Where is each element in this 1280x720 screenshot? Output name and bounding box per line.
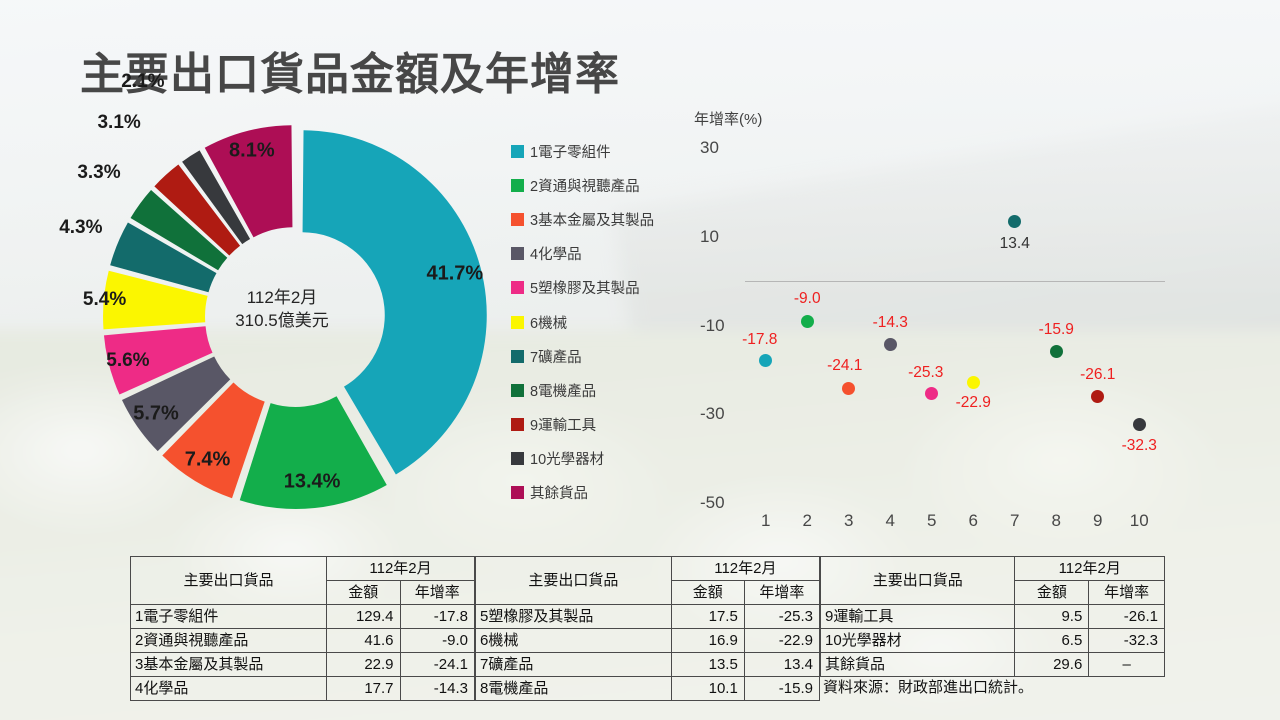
table-col-header-period: 112年2月 [1015,557,1165,581]
legend-item-label: 9運輸工具 [530,414,596,435]
table-cell-amount: 17.5 [671,605,744,629]
donut-slice-label: 41.7% [426,263,483,286]
table-cell-amount: 17.7 [327,677,400,701]
donut-center-label: 112年2月 310.5億美元 [202,255,362,365]
scatter-y-tick: 30 [700,138,719,158]
scatter-point[interactable] [842,382,855,395]
table-col-header-growth: 年增率 [400,581,474,605]
chart-legend: 1電子零組件2資通與視聽產品3基本金屬及其製品4化學品5塑橡膠及其製品6機械7礦… [511,134,691,510]
table-col-header-amount: 金額 [327,581,400,605]
scatter-axis-title: 年增率(%) [694,108,762,129]
legend-item-label: 5塑橡膠及其製品 [530,277,640,298]
legend-swatch-icon [511,384,524,397]
table-cell-growth: 13.4 [744,653,819,677]
scatter-y-tick: -30 [700,404,725,424]
donut-slice-label: 5.4% [83,289,126,311]
scatter-point[interactable] [1008,215,1021,228]
table-col-header-growth: 年增率 [744,581,819,605]
scatter-x-tick: 6 [961,511,985,531]
table-cell-growth: -9.0 [400,629,474,653]
legend-item[interactable]: 5塑橡膠及其製品 [511,271,691,305]
table-cell-growth: -26.1 [1089,605,1165,629]
table-block: 主要出口貨品112年2月金額年增率1電子零組件129.4-17.82資通與視聽產… [130,556,475,699]
table-col-header-period: 112年2月 [671,557,819,581]
legend-swatch-icon [511,452,524,465]
scatter-x-tick: 3 [837,511,861,531]
scatter-point[interactable] [1133,418,1146,431]
table-row: 8電機產品10.1-15.9 [476,677,820,701]
export-goods-table: 主要出口貨品112年2月金額年增率1電子零組件129.4-17.82資通與視聽產… [130,556,475,701]
legend-item-label: 2資通與視聽產品 [530,175,640,196]
scatter-point-label: 13.4 [1000,235,1030,253]
table-cell-growth: – [1089,653,1165,677]
legend-item[interactable]: 6機械 [511,305,691,339]
table-cell-name: 5塑橡膠及其製品 [476,605,672,629]
table-col-header-amount: 金額 [671,581,744,605]
table-cell-growth: -15.9 [744,677,819,701]
table-cell-name: 4化學品 [131,677,327,701]
scatter-point[interactable] [759,354,772,367]
scatter-zero-line [745,281,1165,282]
scatter-point-label: -26.1 [1080,366,1115,384]
table-cell-amount: 9.5 [1015,605,1089,629]
scatter-point-label: -14.3 [873,314,908,332]
scatter-x-tick: 2 [795,511,819,531]
table-cell-growth: -22.9 [744,629,819,653]
table-cell-amount: 41.6 [327,629,400,653]
legend-item[interactable]: 8電機產品 [511,373,691,407]
legend-item[interactable]: 4化學品 [511,237,691,271]
donut-chart: 112年2月 310.5億美元 41.7%13.4%7.4%5.7%5.6%5.… [90,112,510,512]
table-cell-name: 3基本金屬及其製品 [131,653,327,677]
legend-item-label: 1電子零組件 [530,141,611,162]
table-col-header-amount: 金額 [1015,581,1089,605]
scatter-y-tick: 10 [700,227,719,247]
legend-swatch-icon [511,316,524,329]
data-table: 主要出口貨品112年2月金額年增率1電子零組件129.4-17.82資通與視聽產… [130,556,1165,699]
table-cell-name: 1電子零組件 [131,605,327,629]
table-cell-name: 10光學器材 [821,629,1015,653]
scatter-point-label: -24.1 [827,357,862,375]
donut-slice-label: 13.4% [284,470,341,493]
table-cell-amount: 22.9 [327,653,400,677]
table-cell-name: 其餘貨品 [821,653,1015,677]
table-block: 主要出口貨品112年2月金額年增率5塑橡膠及其製品17.5-25.36機械16.… [475,556,820,699]
table-row: 9運輸工具9.5-26.1 [821,605,1165,629]
legend-item[interactable]: 3基本金屬及其製品 [511,202,691,236]
legend-item[interactable]: 9運輸工具 [511,408,691,442]
table-col-header-name: 主要出口貨品 [476,557,672,605]
scatter-x-tick: 9 [1086,511,1110,531]
table-row: 7礦產品13.513.4 [476,653,820,677]
scatter-point-label: -22.9 [956,394,991,412]
table-col-header-growth: 年增率 [1089,581,1165,605]
table-cell-growth: -17.8 [400,605,474,629]
legend-item[interactable]: 2資通與視聽產品 [511,168,691,202]
table-col-header-period: 112年2月 [327,557,475,581]
scatter-point-label: -9.0 [794,290,821,308]
table-cell-growth: -25.3 [744,605,819,629]
scatter-y-tick: -10 [700,316,725,336]
table-block: 主要出口貨品112年2月金額年增率9運輸工具9.5-26.110光學器材6.5-… [820,556,1165,699]
legend-swatch-icon [511,213,524,226]
table-cell-growth: -24.1 [400,653,474,677]
scatter-point-label: -25.3 [908,364,943,382]
scatter-x-tick: 8 [1044,511,1068,531]
scatter-x-tick: 5 [920,511,944,531]
donut-center-line1: 112年2月 [247,287,318,310]
legend-item-label: 6機械 [530,312,567,333]
donut-center-line2: 310.5億美元 [235,310,329,333]
table-cell-amount: 29.6 [1015,653,1089,677]
legend-item-label: 8電機產品 [530,380,596,401]
table-header-row: 主要出口貨品112年2月 [131,557,475,581]
donut-slice-label: 3.3% [77,162,120,184]
table-row: 2資通與視聽產品41.6-9.0 [131,629,475,653]
legend-item-label: 其餘貨品 [530,482,588,503]
scatter-point-label: -32.3 [1122,437,1157,455]
table-row: 3基本金屬及其製品22.9-24.1 [131,653,475,677]
table-col-header-name: 主要出口貨品 [821,557,1015,605]
table-row: 1電子零組件129.4-17.8 [131,605,475,629]
table-row: 10光學器材6.5-32.3 [821,629,1165,653]
donut-slice-label: 2.1% [121,71,164,93]
source-note: 資料來源：財政部進出口統計。 [823,676,1033,697]
donut-slice-label: 5.7% [133,403,179,426]
table-cell-amount: 10.1 [671,677,744,701]
table-cell-name: 2資通與視聽產品 [131,629,327,653]
legend-swatch-icon [511,486,524,499]
table-cell-amount: 6.5 [1015,629,1089,653]
scatter-point[interactable] [1091,390,1104,403]
scatter-chart: 年增率(%) 3010-10-30-5012345678910-17.8-9.0… [690,108,1190,533]
table-cell-name: 7礦產品 [476,653,672,677]
scatter-point[interactable] [925,387,938,400]
legend-item-label: 7礦產品 [530,346,582,367]
table-row: 其餘貨品29.6– [821,653,1165,677]
table-cell-amount: 13.5 [671,653,744,677]
table-cell-name: 6機械 [476,629,672,653]
table-row: 5塑橡膠及其製品17.5-25.3 [476,605,820,629]
donut-slice-label: 8.1% [229,139,275,162]
scatter-point[interactable] [967,376,980,389]
scatter-x-tick: 7 [1003,511,1027,531]
table-cell-name: 8電機產品 [476,677,672,701]
legend-item-label: 4化學品 [530,243,582,264]
table-row: 6機械16.9-22.9 [476,629,820,653]
table-header-row: 主要出口貨品112年2月 [476,557,820,581]
donut-slice-label: 3.1% [97,112,140,134]
export-goods-table: 主要出口貨品112年2月金額年增率9運輸工具9.5-26.110光學器材6.5-… [820,556,1165,677]
legend-swatch-icon [511,179,524,192]
scatter-y-tick: -50 [700,493,725,513]
legend-item[interactable]: 7礦產品 [511,339,691,373]
table-cell-name: 9運輸工具 [821,605,1015,629]
scatter-x-tick: 1 [754,511,778,531]
table-cell-growth: -32.3 [1089,629,1165,653]
legend-item-label: 3基本金屬及其製品 [530,209,654,230]
donut-slice-label: 7.4% [185,448,231,471]
scatter-point[interactable] [884,338,897,351]
scatter-x-tick: 10 [1127,511,1151,531]
legend-swatch-icon [511,350,524,363]
legend-swatch-icon [511,247,524,260]
table-col-header-name: 主要出口貨品 [131,557,327,605]
legend-item[interactable]: 其餘貨品 [511,476,691,510]
donut-slice-label: 5.6% [106,350,149,372]
legend-item-label: 10光學器材 [530,448,604,469]
legend-swatch-icon [511,145,524,158]
export-goods-table: 主要出口貨品112年2月金額年增率5塑橡膠及其製品17.5-25.36機械16.… [475,556,820,701]
table-cell-amount: 129.4 [327,605,400,629]
legend-item[interactable]: 10光學器材 [511,442,691,476]
table-row: 4化學品17.7-14.3 [131,677,475,701]
legend-swatch-icon [511,281,524,294]
scatter-point[interactable] [801,315,814,328]
legend-swatch-icon [511,418,524,431]
donut-slice-label: 4.3% [59,217,102,239]
table-cell-amount: 16.9 [671,629,744,653]
table-header-row: 主要出口貨品112年2月 [821,557,1165,581]
legend-item[interactable]: 1電子零組件 [511,134,691,168]
scatter-point-label: -15.9 [1039,321,1074,339]
scatter-point-label: -17.8 [742,331,777,349]
scatter-point[interactable] [1050,345,1063,358]
table-cell-growth: -14.3 [400,677,474,701]
scatter-x-tick: 4 [878,511,902,531]
